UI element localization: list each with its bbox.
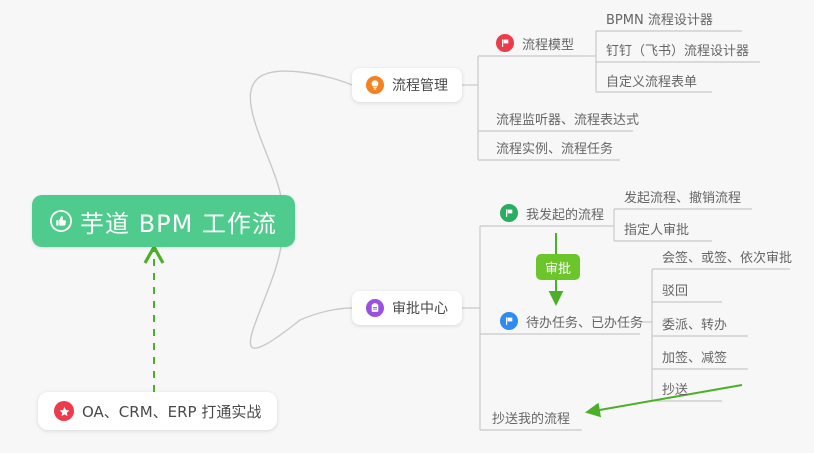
thumbs-up-icon bbox=[50, 210, 72, 232]
branch-label: 流程管理 bbox=[392, 75, 448, 95]
mindmap-canvas: 芋道 BPM 工作流 流程管理 流程模型 BPMN 流程设计器 钉钉（飞书）流程… bbox=[0, 0, 814, 453]
topic-process-model[interactable]: 流程模型 bbox=[488, 30, 582, 56]
topic-label: 待办任务、已办任务 bbox=[526, 312, 643, 331]
leaf-label: 自定义流程表单 bbox=[606, 71, 697, 90]
leaf-label: 驳回 bbox=[662, 280, 688, 299]
edge-root-to-approval-center bbox=[250, 235, 352, 348]
callout-integration-practice[interactable]: OA、CRM、ERP 打通实战 bbox=[38, 392, 277, 430]
approval-annotation-badge: 审批 bbox=[536, 254, 580, 280]
leaf-dingtalk-feishu-designer[interactable]: 钉钉（飞书）流程设计器 bbox=[598, 36, 757, 62]
topic-process-listener[interactable]: 流程监听器、流程表达式 bbox=[488, 105, 647, 131]
topic-label: 我发起的流程 bbox=[526, 204, 604, 223]
leaf-countersign[interactable]: 会签、或签、依次审批 bbox=[654, 243, 800, 269]
approval-badge-label: 审批 bbox=[545, 258, 571, 277]
leaf-label: 会签、或签、依次审批 bbox=[662, 247, 792, 266]
branch-process-management[interactable]: 流程管理 bbox=[352, 68, 462, 102]
topic-todo-done-tasks[interactable]: 待办任务、已办任务 bbox=[492, 308, 651, 334]
callout-label: OA、CRM、ERP 打通实战 bbox=[82, 401, 261, 422]
leaf-label: 抄送 bbox=[662, 379, 688, 398]
root-label: 芋道 BPM 工作流 bbox=[80, 204, 277, 239]
leaf-label: 委派、转办 bbox=[662, 314, 727, 333]
leaf-cc[interactable]: 抄送 bbox=[654, 375, 696, 401]
topic-label: 流程模型 bbox=[522, 34, 574, 53]
edge-root-to-process-management bbox=[250, 71, 352, 207]
clipboard-icon bbox=[366, 299, 384, 317]
branch-approval-center[interactable]: 审批中心 bbox=[352, 291, 462, 325]
leaf-custom-form[interactable]: 自定义流程表单 bbox=[598, 67, 705, 93]
leaf-add-remove-sign[interactable]: 加签、减签 bbox=[654, 343, 735, 369]
root-node[interactable]: 芋道 BPM 工作流 bbox=[32, 195, 295, 247]
branch-label: 审批中心 bbox=[392, 298, 448, 318]
flag-icon bbox=[500, 204, 518, 222]
leaf-start-cancel-process[interactable]: 发起流程、撤销流程 bbox=[616, 183, 749, 209]
flag-icon bbox=[500, 312, 518, 330]
topic-label: 抄送我的流程 bbox=[492, 408, 570, 427]
leaf-label: 指定人审批 bbox=[624, 219, 689, 238]
leaf-label: 发起流程、撤销流程 bbox=[624, 187, 741, 206]
leaf-assignee-approval[interactable]: 指定人审批 bbox=[616, 215, 697, 241]
star-icon bbox=[54, 401, 74, 421]
leaf-reject[interactable]: 驳回 bbox=[654, 276, 696, 302]
topic-process-instance[interactable]: 流程实例、流程任务 bbox=[488, 134, 621, 160]
leaf-delegate-transfer[interactable]: 委派、转办 bbox=[654, 310, 735, 336]
leaf-label: 加签、减签 bbox=[662, 347, 727, 366]
leaf-bpmn-designer[interactable]: BPMN 流程设计器 bbox=[598, 5, 721, 31]
lightbulb-icon bbox=[366, 76, 384, 94]
topic-cc-to-me[interactable]: 抄送我的流程 bbox=[484, 404, 578, 430]
topic-label: 流程监听器、流程表达式 bbox=[496, 109, 639, 128]
topic-label: 流程实例、流程任务 bbox=[496, 138, 613, 157]
topic-my-initiated[interactable]: 我发起的流程 bbox=[492, 200, 612, 226]
leaf-label: BPMN 流程设计器 bbox=[606, 9, 713, 28]
flag-icon bbox=[496, 34, 514, 52]
leaf-label: 钉钉（飞书）流程设计器 bbox=[606, 40, 749, 59]
